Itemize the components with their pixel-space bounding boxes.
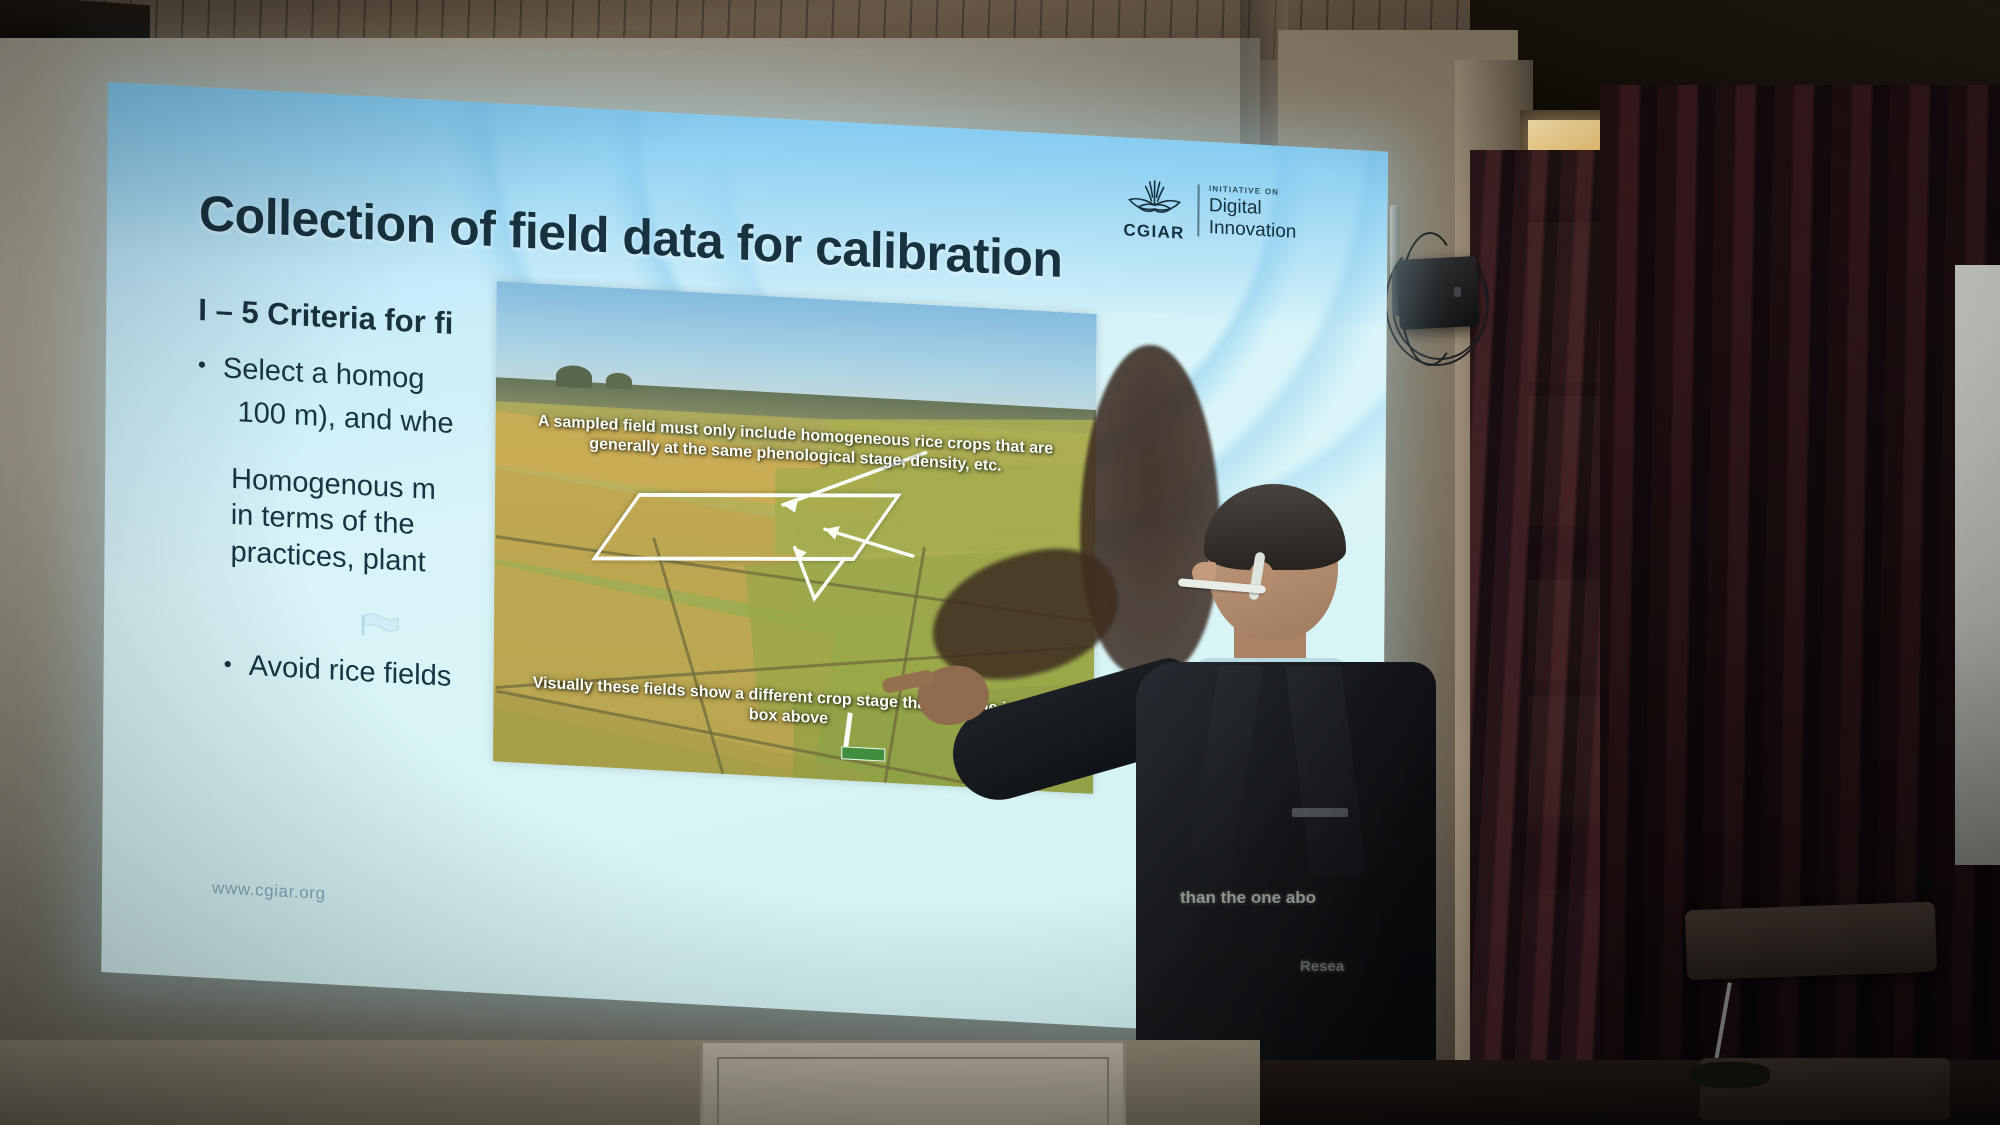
presenter-hair	[1204, 484, 1346, 570]
projected-text-on-presenter: than the one abo	[1180, 888, 1316, 908]
cgiar-wheat-icon: CGIAR	[1119, 173, 1189, 244]
bullet-marker: •	[198, 349, 206, 386]
cgiar-wordmark: CGIAR	[1123, 220, 1184, 243]
photo-green-marker	[841, 746, 885, 761]
presenter: than the one abo Resea	[1130, 490, 1450, 1125]
screenshot-root: Collection of field data for calibration	[0, 0, 2000, 1125]
slide-footer-url: www.cgiar.org	[212, 878, 326, 904]
list-item-text: Avoid rice fields	[249, 650, 452, 694]
jacket-shading	[1136, 662, 1436, 1082]
list-item-text: Select a homog	[223, 350, 425, 398]
list-item-text: 100 m), and whe	[237, 394, 453, 443]
wall-speaker	[1396, 256, 1480, 330]
logo-initiative-name: Digital Innovation	[1209, 195, 1350, 247]
whiteboard-panel	[1955, 265, 2000, 865]
cgiar-logo-lockup: CGIAR INITIATIVE ON Digital Innovation	[1119, 161, 1350, 264]
logo-divider	[1198, 184, 1200, 236]
chair-backrest	[1685, 902, 1937, 981]
bullet-marker: •	[224, 649, 232, 682]
microphone-stand-base	[1690, 1062, 1770, 1088]
flag-icon	[359, 611, 401, 639]
projected-text-on-presenter-2: Resea	[1300, 958, 1344, 975]
curtain-left	[1470, 150, 1620, 1125]
door-panel	[700, 1040, 1126, 1125]
